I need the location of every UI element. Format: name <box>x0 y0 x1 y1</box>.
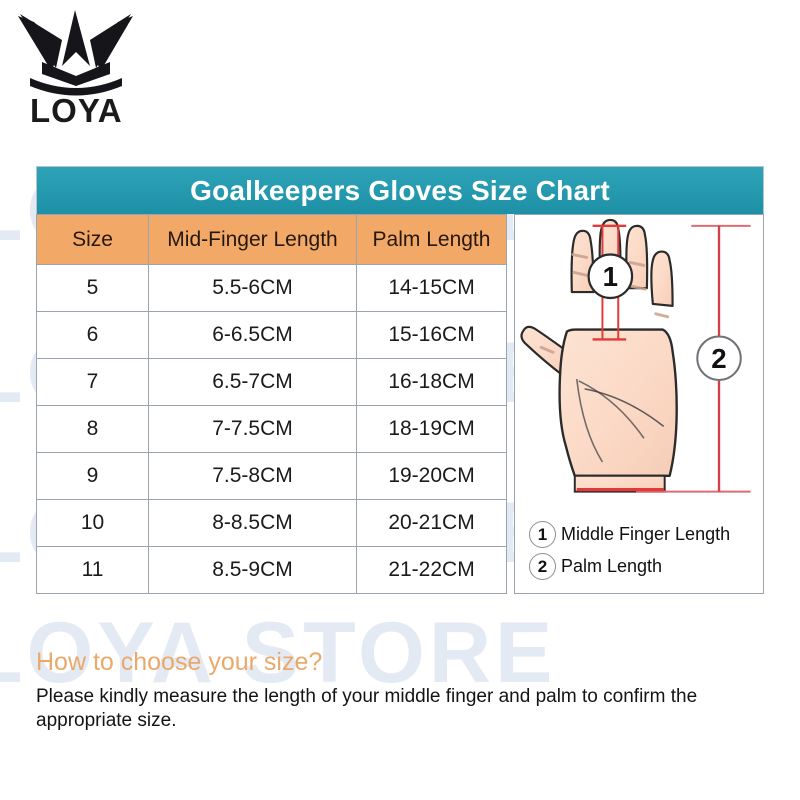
cell-mid-finger: 7-7.5CM <box>149 406 357 453</box>
callout-1-label: 1 <box>603 261 618 292</box>
cell-mid-finger: 8.5-9CM <box>149 547 357 594</box>
chart-body: Size Mid-Finger Length Palm Length 5 5.5… <box>36 214 764 594</box>
cell-mid-finger: 8-8.5CM <box>149 500 357 547</box>
legend-item: 2 Palm Length <box>529 553 757 580</box>
table-row: 9 7.5-8CM 19-20CM <box>37 453 507 500</box>
footer-heading: How to choose your size? <box>36 648 766 677</box>
diagram-legend: 1 Middle Finger Length 2 Palm Length <box>529 521 757 585</box>
column-header-palm-length: Palm Length <box>357 215 507 265</box>
table-row: 8 7-7.5CM 18-19CM <box>37 406 507 453</box>
footer-section: How to choose your size? Please kindly m… <box>36 648 766 734</box>
size-chart-block: Goalkeepers Gloves Size Chart Size Mid-F… <box>36 166 764 594</box>
cell-size: 6 <box>37 312 149 359</box>
cell-palm: 20-21CM <box>357 500 507 547</box>
brand-logo: LOYA <box>12 6 142 131</box>
legend-label-palm-length: Palm Length <box>561 556 662 577</box>
legend-label-middle-finger-length: Middle Finger Length <box>561 524 730 545</box>
cell-palm: 19-20CM <box>357 453 507 500</box>
cell-size: 7 <box>37 359 149 406</box>
legend-bullet-1: 1 <box>529 521 556 548</box>
brand-name: LOYA <box>30 92 123 130</box>
table-header-row: Size Mid-Finger Length Palm Length <box>37 215 507 265</box>
cell-size: 11 <box>37 547 149 594</box>
cell-size: 5 <box>37 265 149 312</box>
cell-size: 10 <box>37 500 149 547</box>
cell-palm: 21-22CM <box>357 547 507 594</box>
cell-mid-finger: 5.5-6CM <box>149 265 357 312</box>
cell-palm: 14-15CM <box>357 265 507 312</box>
cell-mid-finger: 6.5-7CM <box>149 359 357 406</box>
hand-palm-icon: 1 2 <box>515 215 763 541</box>
cell-mid-finger: 6-6.5CM <box>149 312 357 359</box>
table-row: 11 8.5-9CM 21-22CM <box>37 547 507 594</box>
cell-palm: 15-16CM <box>357 312 507 359</box>
column-header-size: Size <box>37 215 149 265</box>
table-row: 7 6.5-7CM 16-18CM <box>37 359 507 406</box>
footer-body-text: Please kindly measure the length of your… <box>36 685 736 734</box>
callout-2-label: 2 <box>711 343 726 374</box>
size-table: Size Mid-Finger Length Palm Length 5 5.5… <box>36 214 507 594</box>
legend-bullet-2: 2 <box>529 553 556 580</box>
cell-palm: 16-18CM <box>357 359 507 406</box>
crown-icon <box>12 6 142 101</box>
table-row: 10 8-8.5CM 20-21CM <box>37 500 507 547</box>
cell-mid-finger: 7.5-8CM <box>149 453 357 500</box>
chart-title: Goalkeepers Gloves Size Chart <box>36 166 764 214</box>
hand-diagram-panel: 1 2 1 Middle Finger Length 2 Palm Length <box>514 214 764 594</box>
table-row: 6 6-6.5CM 15-16CM <box>37 312 507 359</box>
cell-size: 8 <box>37 406 149 453</box>
table-row: 5 5.5-6CM 14-15CM <box>37 265 507 312</box>
cell-palm: 18-19CM <box>357 406 507 453</box>
legend-item: 1 Middle Finger Length <box>529 521 757 548</box>
column-header-mid-finger-length: Mid-Finger Length <box>149 215 357 265</box>
cell-size: 9 <box>37 453 149 500</box>
